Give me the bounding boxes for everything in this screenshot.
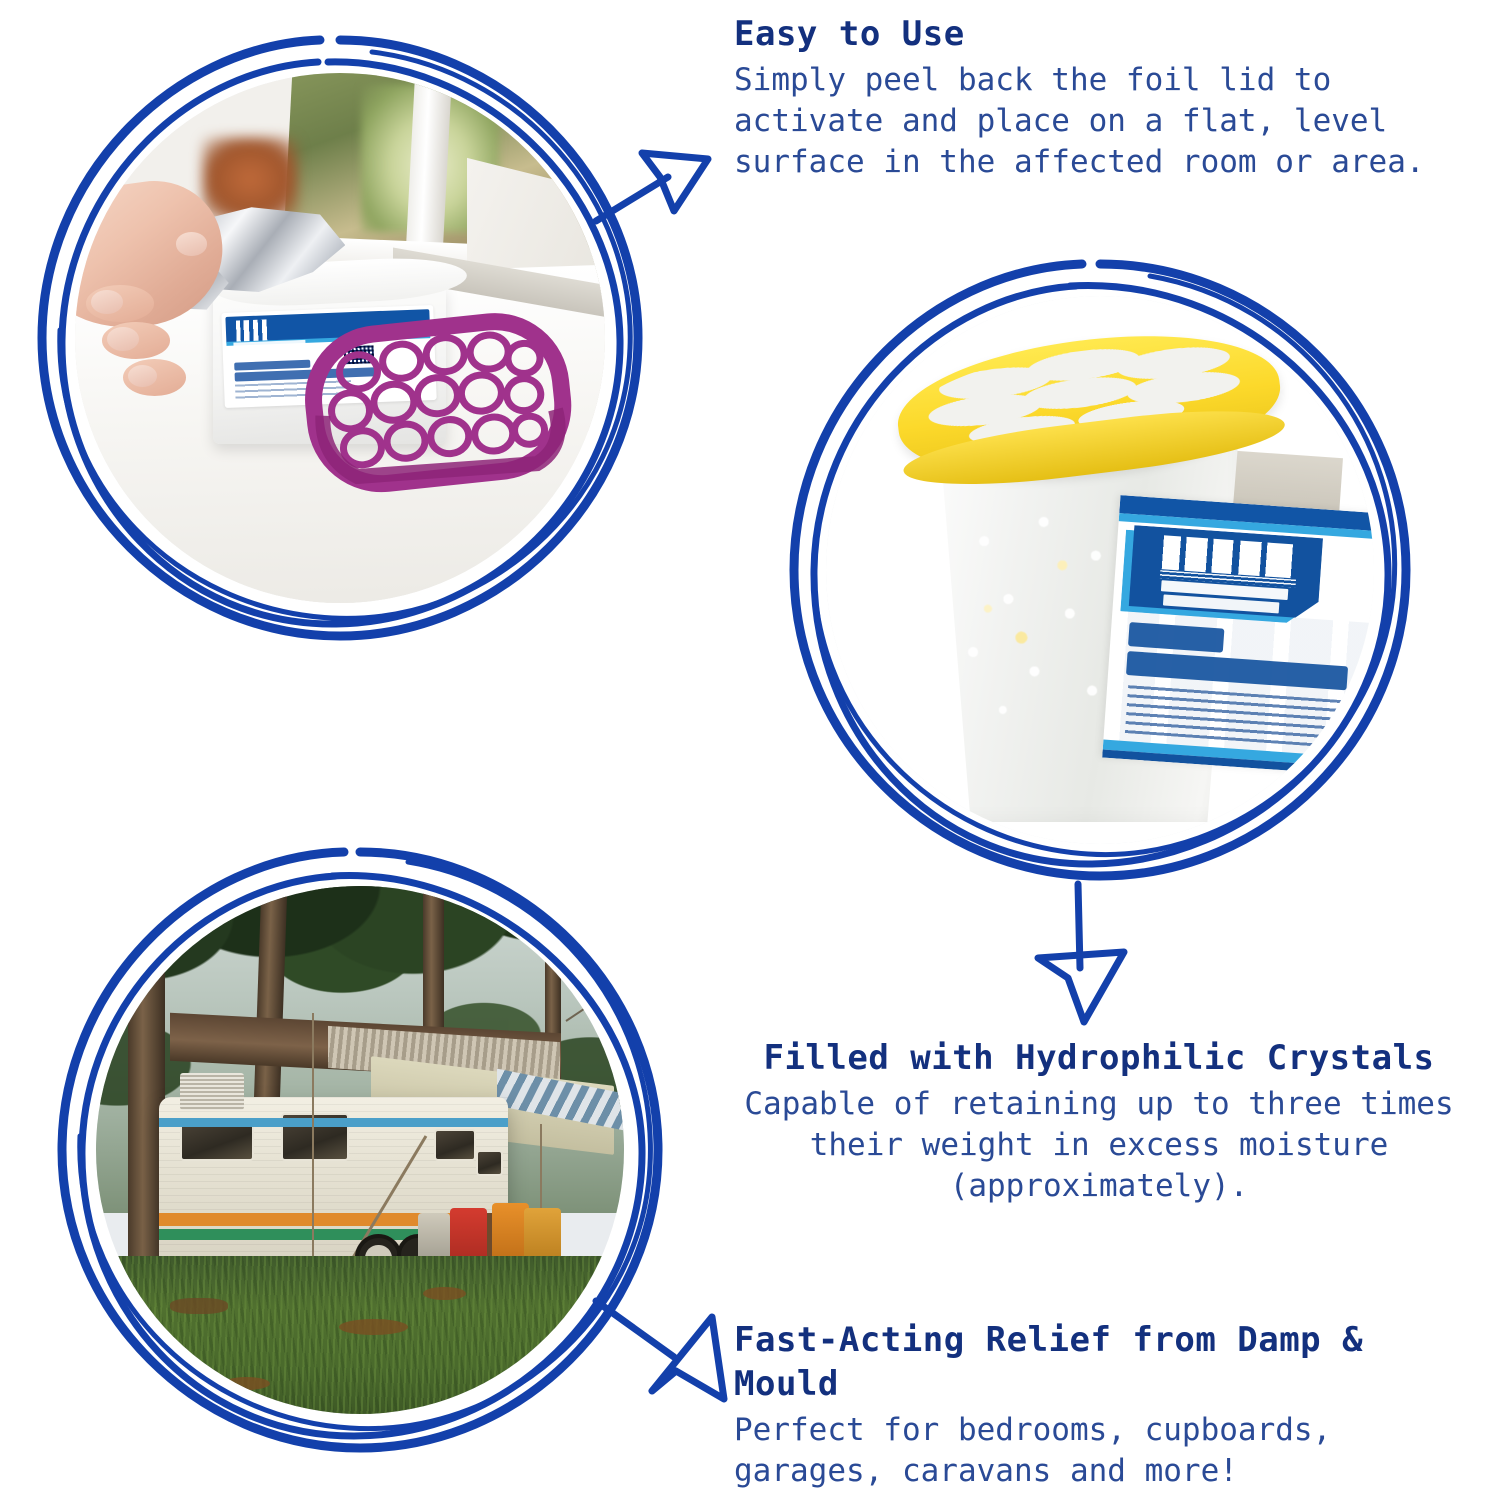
arrow-middle-down [1012, 880, 1152, 1030]
body-fast-acting-relief: Perfect for bedrooms, cupboards, garages… [734, 1410, 1464, 1492]
heading-fast-acting-relief: Fast-Acting Relief from Damp & Mould [734, 1318, 1464, 1406]
section-hydrophilic-crystals: Filled with Hydrophilic Crystals Capable… [734, 1036, 1464, 1207]
photo-peel-foil-image [75, 73, 605, 603]
photo-caravan-image [96, 886, 624, 1414]
body-easy-to-use: Simply peel back the foil lid to activat… [734, 60, 1464, 183]
photo-vanilla-tub [770, 240, 1430, 900]
infographic-canvas: Easy to Use Simply peel back the foil li… [0, 0, 1500, 1500]
vanilla-product-label [1102, 495, 1374, 776]
photo-peel-foil [20, 18, 660, 658]
section-easy-to-use: Easy to Use Simply peel back the foil li… [734, 12, 1464, 183]
photo-caravan [40, 830, 680, 1470]
heading-hydrophilic-crystals: Filled with Hydrophilic Crystals [734, 1036, 1464, 1080]
purple-mesh-lid [75, 73, 605, 603]
section-fast-acting-relief: Fast-Acting Relief from Damp & Mould Per… [734, 1318, 1464, 1492]
body-hydrophilic-crystals: Capable of retaining up to three times t… [734, 1084, 1464, 1207]
photo-vanilla-tub-image [826, 296, 1374, 844]
heading-easy-to-use: Easy to Use [734, 12, 1464, 56]
